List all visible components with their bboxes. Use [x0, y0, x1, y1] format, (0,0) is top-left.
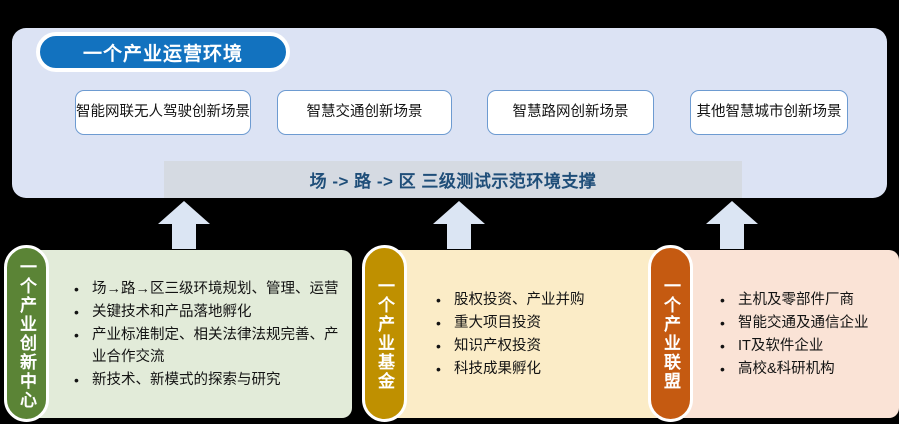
pillar-bullet-list: 场→路→区三级环境规划、管理、运营 关键技术和产品落地孵化 产业标准制定、相关法…: [54, 250, 346, 418]
list-item: 产业标准制定、相关法律法规完善、产业合作交流: [74, 324, 346, 368]
scenario-box-label: 智慧交通创新场景: [307, 103, 423, 122]
scenario-box-other-smart-city[interactable]: 其他智慧城市创新场景: [690, 90, 848, 135]
scenario-box-smart-transportation[interactable]: 智慧交通创新场景: [277, 90, 452, 135]
scenario-box-intelligent-connected-driving[interactable]: 智能网联无人驾驶创新场景: [75, 90, 251, 135]
scenario-box-row: 智能网联无人驾驶创新场景 智慧交通创新场景 智慧路网创新场景 其他智慧城市创新场…: [12, 90, 899, 138]
pillar-tab-label: 一个产业联盟: [658, 277, 683, 391]
scenario-box-smart-road-network[interactable]: 智慧路网创新场景: [487, 90, 654, 135]
diagram-canvas: 一个产业运营环境 智能网联无人驾驶创新场景 智慧交通创新场景 智慧路网创新场景 …: [0, 0, 899, 424]
pillar-tab-innovation-center[interactable]: 一个产业创新中心: [4, 245, 49, 422]
pillar-innovation-center: 场→路→区三级环境规划、管理、运营 关键技术和产品落地孵化 产业标准制定、相关法…: [0, 250, 352, 418]
environment-badge: 一个产业运营环境: [36, 32, 290, 72]
industry-operating-environment-panel: 一个产业运营环境 智能网联无人驾驶创新场景 智慧交通创新场景 智慧路网创新场景 …: [12, 28, 887, 198]
scenario-box-label: 智慧路网创新场景: [513, 103, 629, 122]
support-banner-label: 场 -> 路 -> 区 三级测试示范环境支撑: [310, 167, 597, 192]
list-item: 智能交通及通信企业: [720, 312, 896, 334]
test-demo-environment-support-banner: 场 -> 路 -> 区 三级测试示范环境支撑: [164, 161, 742, 198]
pillar-industry-alliance: 主机及零部件厂商 智能交通及通信企业 IT及软件企业 高校&科研机构 一个产业联…: [640, 250, 899, 418]
scenario-box-label: 其他智慧城市创新场景: [697, 103, 842, 122]
up-arrow-icon-right: [705, 200, 759, 250]
list-item: IT及软件企业: [720, 335, 896, 357]
scenario-box-label: 智能网联无人驾驶创新场景: [76, 103, 250, 122]
list-item: 关键技术和产品落地孵化: [74, 301, 346, 323]
environment-badge-label: 一个产业运营环境: [83, 39, 243, 66]
pillar-tab-industry-alliance[interactable]: 一个产业联盟: [648, 245, 693, 422]
list-item: 主机及零部件厂商: [720, 289, 896, 311]
pillar-tab-industry-fund[interactable]: 一个产业基金: [362, 245, 407, 422]
pillar-tab-label: 一个产业基金: [372, 277, 397, 391]
up-arrow-icon-left: [157, 200, 211, 250]
list-item: 高校&科研机构: [720, 358, 896, 380]
pillar-tab-label: 一个产业创新中心: [14, 258, 39, 410]
list-item: 场→路→区三级环境规划、管理、运营: [74, 278, 346, 300]
pillar-bullet-list: 主机及零部件厂商 智能交通及通信企业 IT及软件企业 高校&科研机构: [700, 250, 896, 418]
up-arrow-icon-middle: [432, 200, 486, 250]
list-item: 新技术、新模式的探索与研究: [74, 369, 346, 391]
